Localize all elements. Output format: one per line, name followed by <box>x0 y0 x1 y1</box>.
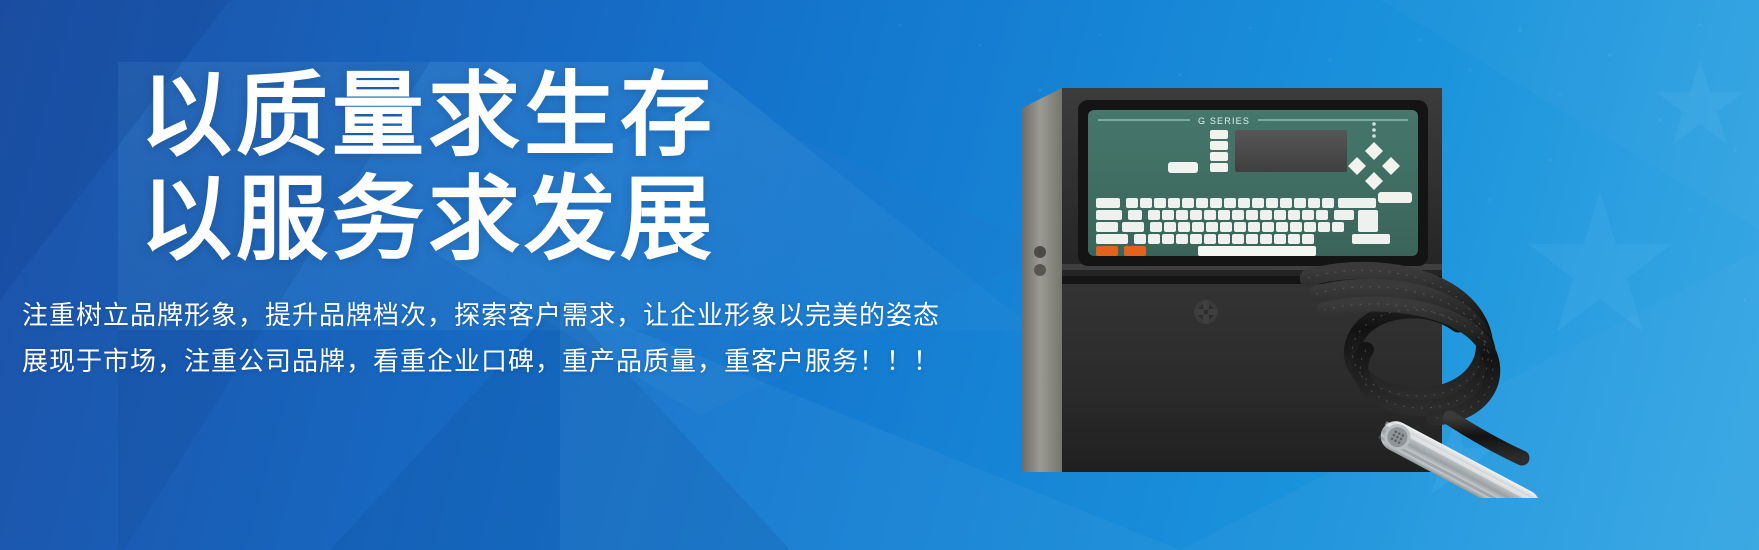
headline-block: 以质量求生存 以服务求发展 注重树立品牌形象，提升品牌档次，探索客户需求，让企业… <box>140 66 1020 384</box>
side-bolt-lower <box>1034 264 1046 276</box>
key-space <box>1198 246 1316 256</box>
panel-lcd-screen <box>1235 130 1347 172</box>
key-f1 <box>1210 130 1228 139</box>
key-stop <box>1124 246 1146 256</box>
panel-model-label: G SERIES <box>1198 116 1250 126</box>
status-led-group <box>1372 122 1376 138</box>
subtitle-block: 注重树立品牌形象，提升品牌档次，探索客户需求，让企业形象以完美的姿态 展现于市场… <box>22 292 1020 384</box>
led-3 <box>1372 134 1376 138</box>
key-backspace <box>1338 198 1376 208</box>
promo-banner: 以质量求生存 以服务求发展 注重树立品牌形象，提升品牌档次，探索客户需求，让企业… <box>0 0 1759 550</box>
cabinet-lock-icon <box>1194 300 1218 324</box>
key-del <box>1334 210 1354 220</box>
key-f2 <box>1210 141 1228 150</box>
hose-tail <box>1450 418 1522 458</box>
side-bolt-upper <box>1034 246 1046 258</box>
key-f3 <box>1210 152 1228 161</box>
key-start <box>1096 246 1118 256</box>
key-f4 <box>1210 163 1228 172</box>
printer-side-panel <box>1022 88 1062 472</box>
subtitle-line-2: 展现于市场，注重公司品牌，看重企业口碑，重产品质量，重客户服务！！！ <box>22 338 1020 384</box>
key-caps <box>1096 210 1122 220</box>
headline-line-2: 以服务求发展 <box>140 170 1020 270</box>
headline-line-1: 以质量求生存 <box>140 66 1020 166</box>
printhead-assembly <box>1300 258 1630 498</box>
key-enter <box>1378 192 1412 203</box>
key-alt <box>1122 222 1144 232</box>
key-esc <box>1096 198 1120 208</box>
key-enter-tall <box>1358 210 1378 232</box>
key-shift-left <box>1096 234 1128 244</box>
led-2 <box>1372 128 1376 132</box>
led-1 <box>1372 122 1376 126</box>
key-ctrl <box>1096 222 1118 232</box>
key-shift-right <box>1352 234 1390 244</box>
subtitle-line-1: 注重树立品牌形象，提升品牌档次，探索客户需求，让企业形象以完美的姿态 <box>22 292 1020 338</box>
key-esc-top <box>1168 162 1198 173</box>
